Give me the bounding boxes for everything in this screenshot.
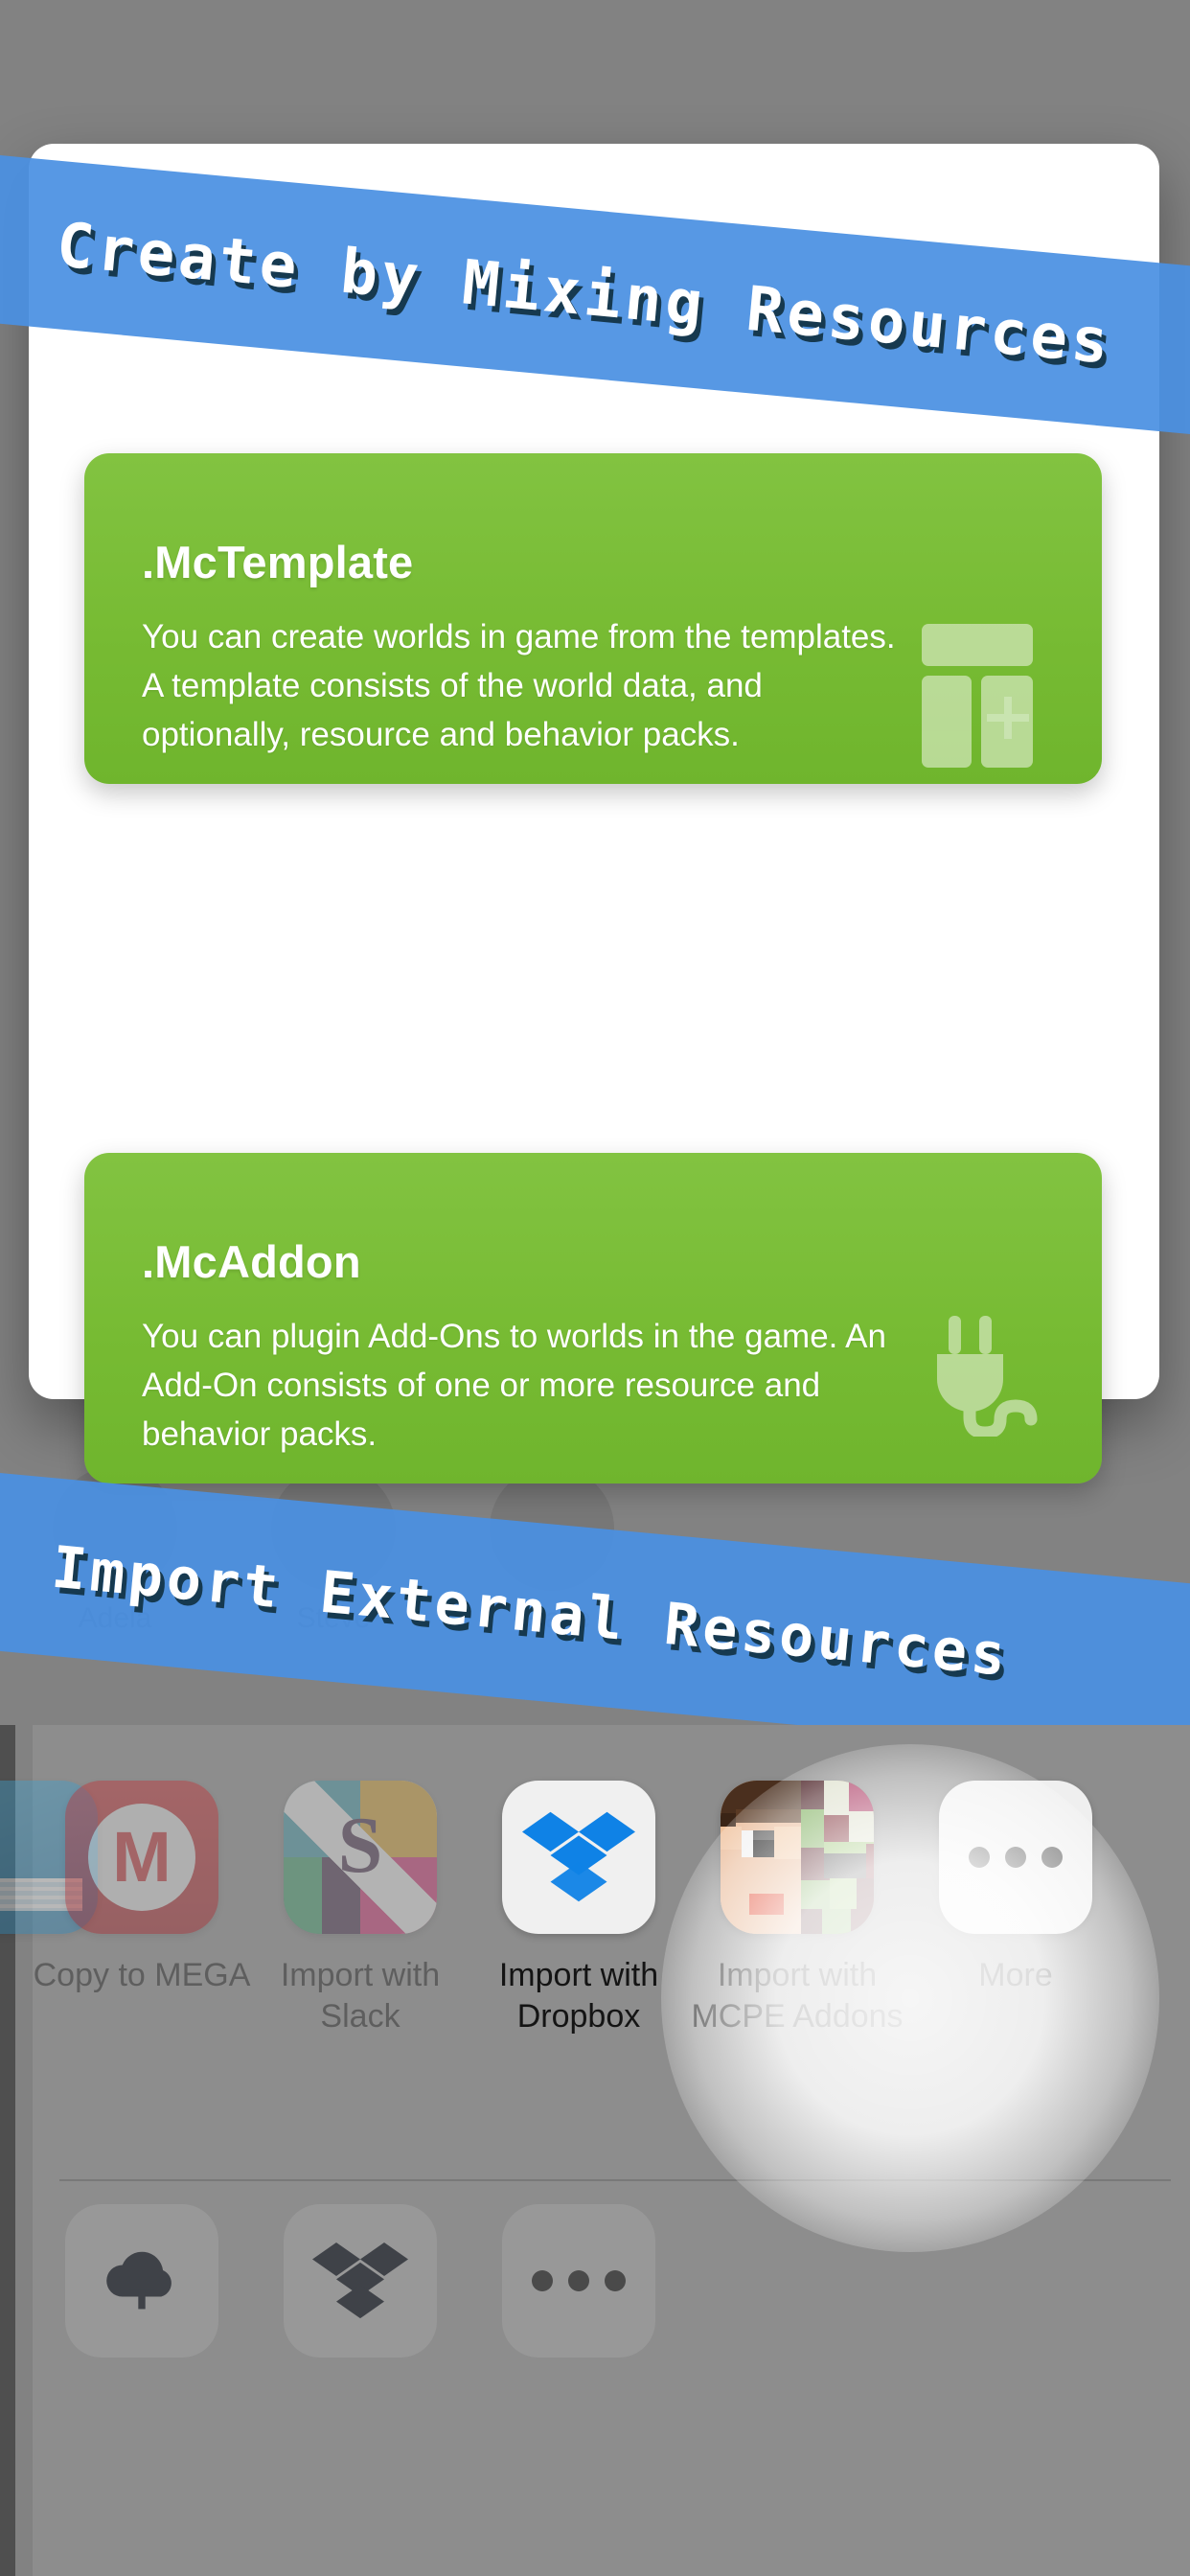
option-card-mcaddon[interactable]: .McAddon You can plugin Add-Ons to world… xyxy=(84,1153,1102,1483)
share-app-files[interactable]: th xyxy=(0,1781,33,1996)
share-app-mega[interactable]: M Copy to MEGA xyxy=(33,1781,251,1996)
more-ellipsis-icon xyxy=(502,2204,655,2357)
sheet-divider xyxy=(59,2179,1171,2181)
card-title: .McTemplate xyxy=(142,536,413,588)
share-app-row[interactable]: th M Copy to MEGA S xyxy=(33,1781,1190,2160)
card-title: .McAddon xyxy=(142,1235,361,1288)
screen-root: MCPE Addons Request Title Downloadtrolle… xyxy=(0,0,1190,2576)
app-label: Import with Dropbox xyxy=(469,1955,688,2037)
action-save-to-files[interactable] xyxy=(33,2204,251,2453)
dropbox-icon xyxy=(502,1781,655,1934)
mega-icon: M xyxy=(65,1781,218,1934)
action-more[interactable] xyxy=(469,2204,688,2453)
share-action-row[interactable] xyxy=(33,2204,1190,2453)
share-sheet: th M Copy to MEGA S xyxy=(33,1725,1190,2576)
app-label: Import with MCPE Addons xyxy=(688,1955,906,2037)
cloud-upload-icon xyxy=(65,2204,218,2357)
template-plus-icon xyxy=(922,624,1042,739)
dropbox-save-icon xyxy=(284,2204,437,2357)
app-label: Copy to MEGA xyxy=(33,1955,251,1996)
app-label: More xyxy=(906,1955,1125,1996)
share-app-slack[interactable]: S Import with Slack xyxy=(251,1781,469,2037)
app-label: th xyxy=(0,1955,33,1996)
share-app-more[interactable]: More xyxy=(906,1781,1125,1996)
mcpe-addons-icon xyxy=(721,1781,874,1934)
banner-text: Import External Resources xyxy=(49,1533,1012,1689)
more-ellipsis-icon xyxy=(939,1781,1092,1934)
slack-icon: S xyxy=(284,1781,437,1934)
share-app-dropbox[interactable]: Import with Dropbox xyxy=(469,1781,688,2037)
option-card-mctemplate[interactable]: .McTemplate You can create worlds in gam… xyxy=(84,453,1102,784)
card-description: You can create worlds in game from the t… xyxy=(142,612,908,759)
action-save-to-dropbox[interactable] xyxy=(251,2204,469,2453)
app-label: Import with Slack xyxy=(251,1955,469,2037)
card-description: You can plugin Add-Ons to worlds in the … xyxy=(142,1312,908,1459)
share-app-mcpe-addons[interactable]: Import with MCPE Addons xyxy=(688,1781,906,2037)
plug-icon xyxy=(920,1316,1042,1437)
